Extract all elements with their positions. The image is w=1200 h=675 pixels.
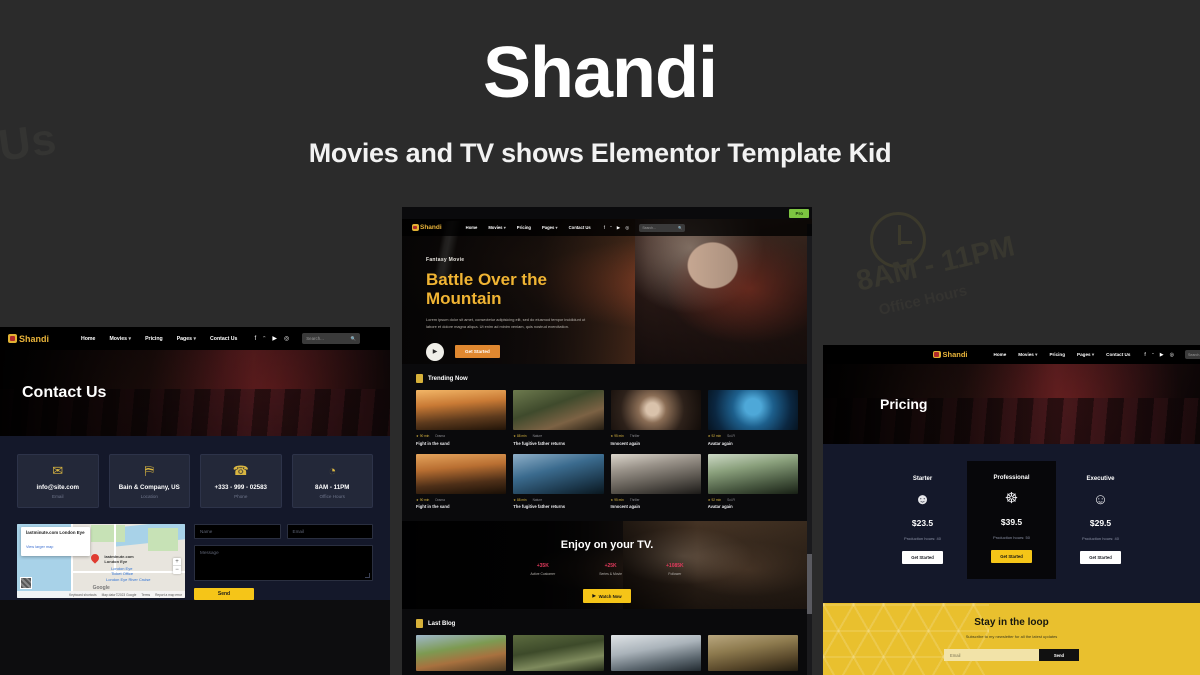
movie-thumbnail: [611, 390, 701, 430]
movie-genre: Sci-Fi: [727, 498, 735, 502]
nav-item-home[interactable]: Home: [466, 225, 478, 230]
enjoy-on-tv-section: Enjoy on your TV. +35K Active Customer +…: [402, 521, 812, 609]
map-pin-label: lastminute.comLondon Eye: [104, 554, 133, 564]
movie-rating: ★ 88 min: [513, 498, 526, 502]
map-card-title: lastminute.com London Eye: [26, 530, 85, 535]
play-icon: ▶: [592, 593, 595, 599]
movie-title: The fugitive father returns: [513, 504, 603, 509]
movie-thumbnail: [708, 454, 798, 494]
nav-item-contact-us[interactable]: Contact Us: [210, 336, 237, 342]
nav-item-movies[interactable]: Movies ▾: [109, 336, 131, 342]
background-watermark-hours: 8AM - 11PM: [853, 230, 1017, 298]
map-terms-link[interactable]: Terms: [141, 593, 150, 597]
movie-card[interactable]: ★ 92 minSci-Fi Avatar again: [708, 454, 798, 510]
movie-rating: ★ 92 min: [708, 498, 721, 502]
movie-card[interactable]: ★ 95 minThriller Innocent again: [611, 390, 701, 446]
map-park-area-1: [91, 525, 125, 541]
movie-thumbnail: [513, 390, 603, 430]
social-links: f ᵔ ▶ ◎: [1144, 352, 1174, 358]
movie-thumbnail: [416, 454, 506, 494]
map-info-card[interactable]: lastminute.com London Eye View larger ma…: [21, 527, 90, 556]
location-pin-icon: ⛿: [114, 464, 186, 477]
movie-genre: Drama: [435, 434, 445, 438]
plan-hours: Production hours: 50: [973, 535, 1050, 540]
blog-thumbnail: [708, 635, 798, 671]
team-icon: ☸: [973, 491, 1050, 506]
movie-thumbnail: [611, 454, 701, 494]
mockup-contact-page[interactable]: Shandi Home Movies ▾ Pricing Pages ▾ Con…: [0, 327, 390, 675]
movie-genre: Thriller: [630, 434, 640, 438]
nav-links: Home Movies ▾ Pricing Pages ▾ Contact Us: [466, 225, 591, 230]
logo-mark-icon: [412, 224, 419, 231]
name-field[interactable]: Name: [194, 524, 281, 539]
section-marker-icon: [416, 374, 423, 383]
logo-text: Shandi: [943, 350, 968, 359]
movie-thumbnail: [416, 390, 506, 430]
search-icon[interactable]: 🔍: [351, 336, 356, 342]
newsletter-content: Stay in the loop Subscribe to my newslet…: [944, 617, 1079, 661]
contact-card-title: info@site.com: [22, 484, 94, 491]
movie-rating: ★ 95 min: [611, 434, 624, 438]
nav-item-contact-us[interactable]: Contact Us: [1106, 352, 1130, 357]
blog-card[interactable]: What happens when known about the artwor…: [708, 635, 798, 675]
movie-title: The fugitive father returns: [513, 441, 603, 446]
nav-item-contact-us[interactable]: Contact Us: [569, 225, 591, 230]
mockup-pricing-page[interactable]: Shandi Home Movies ▾ Pricing Pages ▾ Con…: [823, 345, 1200, 675]
movie-meta: ★ 92 minSci-Fi: [708, 434, 798, 438]
plan-hours: Production hours: 40: [1062, 536, 1139, 541]
plan-price: $23.5: [884, 518, 961, 528]
movie-thumbnail: [708, 390, 798, 430]
map-zoom-in-button[interactable]: +: [173, 558, 181, 566]
plan-name: Executive: [1062, 476, 1139, 482]
movie-meta: ★ 95 minThriller: [611, 498, 701, 502]
plan-name: Professional: [973, 475, 1050, 481]
contact-card-location[interactable]: ⛿ Bain & Company, US Location: [109, 454, 191, 508]
stat-value: +25K: [599, 563, 622, 569]
movie-genre: Sci-Fi: [727, 434, 735, 438]
newsletter-form: Email Send: [944, 649, 1079, 661]
chevron-down-icon-3: ▾: [556, 225, 558, 230]
instagram-icon[interactable]: ◎: [1170, 352, 1174, 358]
contact-card-hours[interactable]: ◔ 8AM - 11PM Office Hours: [292, 454, 374, 508]
movie-title: Innocent again: [611, 504, 701, 509]
hero-title: Battle Over the Mountain: [426, 270, 586, 308]
contact-card-subtitle: Phone: [205, 494, 277, 499]
chevron-down-icon-1: ▾: [128, 336, 131, 342]
stat-label: Active Customer: [530, 572, 555, 576]
newsletter-send-button[interactable]: Send: [1039, 649, 1079, 661]
tv-title: Enjoy on your TV.: [402, 539, 812, 551]
logo-shandi[interactable]: Shandi: [933, 350, 968, 359]
blog-thumbnail: [611, 635, 701, 671]
movie-rating: ★ 90 min: [416, 498, 429, 502]
navbar-right: Shandi Home Movies ▾ Pricing Pages ▾ Con…: [823, 345, 1200, 364]
nav-item-pages[interactable]: Pages ▾: [1077, 352, 1094, 358]
contact-card-subtitle: Office Hours: [297, 494, 369, 499]
movie-title: Fight in the sand: [416, 504, 506, 509]
twitter-icon[interactable]: ᵔ: [1152, 352, 1154, 358]
movie-rating: ★ 90 min: [416, 434, 429, 438]
hero-banner-center: Fantasy Movie Battle Over the Mountain L…: [402, 219, 812, 364]
trending-grid-row-1: ★ 90 minDrama Fight in the sand ★ 88 min…: [402, 390, 812, 446]
watch-now-button[interactable]: ▶ Watch Now: [583, 589, 630, 603]
movie-title: Innocent again: [611, 441, 701, 446]
pricing-plans: Starter ☻ $23.5 Production hours: 40 Get…: [823, 444, 1200, 603]
hero-actions: ▶ Get Started: [426, 343, 586, 361]
blog-thumbnail: [416, 635, 506, 671]
contact-card-title: 8AM - 11PM: [297, 484, 369, 491]
youtube-icon[interactable]: ▶: [617, 225, 621, 231]
clock-icon: ◔: [297, 464, 369, 477]
logo-shandi[interactable]: Shandi: [412, 224, 442, 231]
movie-genre: Thriller: [630, 498, 640, 502]
plan-name: Starter: [884, 476, 961, 482]
plan-price: $29.5: [1062, 518, 1139, 528]
page-subtitle: Movies and TV shows Elementor Template K…: [0, 138, 1200, 169]
envelope-icon: ✉: [22, 464, 94, 477]
blog-card[interactable]: Evaluation of the Luxembourg Group Octob…: [611, 635, 701, 675]
movie-title: Fight in the sand: [416, 441, 506, 446]
movie-card[interactable]: ★ 95 minThriller Innocent again: [611, 454, 701, 510]
social-links: f ᵔ ▶ ◎: [254, 335, 289, 342]
movie-rating: ★ 95 min: [611, 498, 624, 502]
navbar-left: Shandi Home Movies ▾ Pricing Pages ▾ Con…: [0, 327, 390, 350]
banner-title-contact: Contact Us: [22, 384, 106, 402]
instagram-icon[interactable]: ◎: [625, 225, 629, 231]
plan-price: $39.5: [973, 517, 1050, 527]
movie-meta: ★ 88 minNature: [513, 434, 603, 438]
map-zoom-out-button[interactable]: −: [173, 566, 181, 574]
chevron-down-icon-3: ▾: [193, 336, 196, 342]
send-button[interactable]: Send: [194, 588, 254, 600]
nav-item-home[interactable]: Home: [994, 352, 1007, 357]
logo-mark-icon: [933, 351, 941, 359]
email-field[interactable]: Email: [287, 524, 374, 539]
social-links: f ᵔ ▶ ◎: [604, 225, 630, 231]
search-placeholder: Search...: [642, 226, 656, 230]
movie-card[interactable]: ★ 90 minDrama Fight in the sand: [416, 390, 506, 446]
movie-rating: ★ 92 min: [708, 434, 721, 438]
stat-label: Series & Movie: [599, 572, 622, 576]
blog-card[interactable]: How late first-mover advantages can make…: [416, 635, 506, 675]
hero-eyebrow: Fantasy Movie: [426, 257, 586, 263]
contact-section: ✉ info@site.com Email ⛿ Bain & Company, …: [0, 436, 390, 600]
map-keyboard-shortcuts[interactable]: Keyboard shortcuts: [69, 593, 96, 597]
stat-series-movie: +25K Series & Movie: [599, 563, 622, 576]
logo-text: Shandi: [420, 224, 442, 231]
nav-item-movies[interactable]: Movies ▾: [488, 225, 505, 230]
contact-card-title: Bain & Company, US: [114, 484, 186, 491]
newsletter-section: Stay in the loop Subscribe to my newslet…: [823, 603, 1200, 675]
form-row-name-email: Name Email: [194, 524, 373, 539]
pricing-card-executive[interactable]: Executive ☺ $29.5 Production hours: 40 G…: [1056, 466, 1145, 579]
logo-mark-icon: [8, 334, 17, 343]
movie-card[interactable]: ★ 92 minSci-Fi Avatar again: [708, 390, 798, 446]
movie-meta: ★ 92 minSci-Fi: [708, 498, 798, 502]
movie-title: Avatar again: [708, 441, 798, 446]
hero-content: Fantasy Movie Battle Over the Mountain L…: [426, 257, 586, 361]
contact-card-subtitle: Location: [114, 494, 186, 499]
stat-value: +1085K: [666, 563, 684, 569]
newsletter-email-input[interactable]: Email: [944, 649, 1039, 661]
tv-stats: +35K Active Customer +25K Series & Movie…: [402, 563, 812, 576]
user-icon: ☺: [1062, 492, 1139, 507]
contact-card-subtitle: Email: [22, 494, 94, 499]
map-view-larger-link[interactable]: View larger map: [26, 545, 53, 549]
movie-genre: Nature: [533, 498, 543, 502]
contact-card-email[interactable]: ✉ info@site.com Email: [17, 454, 99, 508]
facebook-icon[interactable]: f: [254, 336, 256, 342]
movie-card[interactable]: ★ 88 minNature The fugitive father retur…: [513, 454, 603, 510]
movie-rating: ★ 88 min: [513, 434, 526, 438]
google-map[interactable]: lastminute.comLondon Eye London EyeTicke…: [17, 524, 185, 598]
blog-grid: How late first-mover advantages can make…: [402, 635, 812, 675]
page-banner-left: Contact Us: [0, 350, 390, 436]
stat-value: +35K: [530, 563, 555, 569]
contact-card-phone[interactable]: ☎ +333 - 999 - 02583 Phone: [200, 454, 282, 508]
nav-item-home[interactable]: Home: [81, 336, 95, 342]
nav-item-movies[interactable]: Movies ▾: [1018, 352, 1037, 358]
contact-info-cards: ✉ info@site.com Email ⛿ Bain & Company, …: [0, 436, 390, 508]
movie-genre: Nature: [533, 434, 543, 438]
contact-bottom-row: lastminute.comLondon Eye London EyeTicke…: [0, 508, 390, 600]
stat-follower: +1085K Follower: [666, 563, 684, 576]
chevron-down-icon-1: ▾: [504, 225, 506, 230]
newsletter-subtitle: Subscribe to my newsletter for all the l…: [944, 634, 1079, 639]
mockup-home-page[interactable]: Pro Shandi Home Movies ▾ Pricing Pages ▾…: [402, 207, 812, 675]
blog-heading: Last Blog: [428, 621, 455, 627]
banner-title-pricing: Pricing: [880, 396, 927, 412]
plan-hours: Production hours: 40: [884, 536, 961, 541]
users-icon: ☻: [884, 492, 961, 507]
page-banner-right: Pricing: [823, 364, 1200, 444]
stat-active-customer: +35K Active Customer: [530, 563, 555, 576]
scrollbar-track[interactable]: [807, 224, 812, 675]
blog-thumbnail: [513, 635, 603, 671]
section-marker-icon: [416, 619, 423, 628]
facebook-icon[interactable]: f: [1144, 352, 1145, 358]
map-park-area-2: [148, 528, 178, 550]
blog-card[interactable]: How you can afford to take hold of its b…: [513, 635, 603, 675]
background-watermark-hours-label: Office Hours: [877, 282, 969, 319]
search-input[interactable]: Search... 🔍: [639, 224, 685, 232]
stat-label: Follower: [666, 572, 684, 576]
twitter-icon[interactable]: ᵔ: [610, 225, 612, 230]
tv-content: Enjoy on your TV. +35K Active Customer +…: [402, 521, 812, 603]
map-road: [114, 524, 116, 571]
map-poi-2: London Eye River Cruise: [106, 577, 150, 582]
get-started-button[interactable]: Get Started: [1080, 551, 1121, 564]
nav-item-pages[interactable]: Pages ▾: [177, 336, 196, 342]
hero-cta-button[interactable]: Get Started: [455, 345, 500, 358]
search-input[interactable]: Search... 🔍: [1185, 350, 1200, 359]
pricing-card-professional[interactable]: Professional ☸ $39.5 Production hours: 5…: [967, 461, 1056, 579]
newsletter-title: Stay in the loop: [944, 617, 1079, 628]
hero-description: Lorem ipsum dolor sit amet, consectetur …: [426, 317, 586, 331]
search-placeholder: Search...: [1188, 353, 1200, 357]
hero-character-image: [635, 219, 812, 364]
map-footer: Keyboard shortcuts Map data ©2023 Google…: [17, 591, 185, 598]
facebook-icon[interactable]: f: [604, 225, 605, 230]
nav-item-pricing[interactable]: Pricing: [1049, 352, 1065, 357]
message-field[interactable]: Message: [194, 545, 373, 581]
chevron-down-icon-3: ▾: [1092, 352, 1094, 358]
nav-item-pages[interactable]: Pages ▾: [542, 225, 558, 230]
pro-badge: Pro: [789, 209, 809, 218]
movie-genre: Drama: [435, 498, 445, 502]
movie-meta: ★ 88 minNature: [513, 498, 603, 502]
contact-form: Name Email Message Send: [194, 524, 373, 600]
get-started-button[interactable]: Get Started: [991, 550, 1032, 563]
map-report-link[interactable]: Report a map error: [155, 593, 182, 597]
map-zoom-controls[interactable]: + −: [173, 558, 181, 574]
map-pin-icon: [89, 552, 100, 563]
play-icon[interactable]: ▶: [426, 343, 444, 361]
nav-item-pricing[interactable]: Pricing: [145, 336, 163, 342]
navbar-center: Shandi Home Movies ▾ Pricing Pages ▾ Con…: [402, 219, 812, 236]
nav-links: Home Movies ▾ Pricing Pages ▾ Contact Us: [994, 352, 1131, 358]
page-title: Shandi: [0, 36, 1200, 112]
movie-card[interactable]: ★ 88 minNature The fugitive father retur…: [513, 390, 603, 446]
youtube-icon[interactable]: ▶: [272, 335, 277, 342]
watch-now-label: Watch Now: [599, 594, 622, 599]
map-poi-1: London EyeTicket Office: [111, 566, 133, 576]
search-input[interactable]: Search... 🔍: [302, 333, 360, 344]
movie-card[interactable]: ★ 90 minDrama Fight in the sand: [416, 454, 506, 510]
chevron-down-icon-1: ▾: [1035, 352, 1037, 358]
nav-item-pricing[interactable]: Pricing: [517, 225, 531, 230]
logo-text: Shandi: [19, 334, 49, 344]
map-attribution: Map data ©2023 Google: [102, 593, 137, 597]
movie-thumbnail: [513, 454, 603, 494]
youtube-icon[interactable]: ▶: [1160, 352, 1164, 358]
movie-meta: ★ 90 minDrama: [416, 434, 506, 438]
trending-heading: Trending Now: [428, 376, 468, 382]
contact-card-title: +333 - 999 - 02583: [205, 484, 277, 491]
twitter-icon[interactable]: ᵔ: [263, 336, 265, 342]
get-started-button[interactable]: Get Started: [902, 551, 943, 564]
logo-shandi[interactable]: Shandi: [8, 334, 49, 344]
movie-meta: ★ 95 minThriller: [611, 434, 701, 438]
hero-heading-block: Shandi Movies and TV shows Elementor Tem…: [0, 0, 1200, 169]
instagram-icon[interactable]: ◎: [284, 335, 289, 342]
map-street-view-thumbnail[interactable]: [20, 577, 32, 589]
search-placeholder: Search...: [306, 336, 324, 341]
blog-heading-row: Last Blog: [402, 609, 812, 635]
trending-grid-row-2: ★ 90 minDrama Fight in the sand ★ 88 min…: [402, 454, 812, 510]
trending-heading-row: Trending Now: [402, 364, 812, 390]
nav-links: Home Movies ▾ Pricing Pages ▾ Contact Us: [81, 336, 237, 342]
search-icon[interactable]: 🔍: [678, 226, 682, 230]
background-watermark-clock-icon: [870, 212, 926, 268]
movie-meta: ★ 90 minDrama: [416, 498, 506, 502]
phone-icon: ☎: [205, 464, 277, 477]
pricing-card-starter[interactable]: Starter ☻ $23.5 Production hours: 40 Get…: [878, 466, 967, 579]
movie-title: Avatar again: [708, 504, 798, 509]
